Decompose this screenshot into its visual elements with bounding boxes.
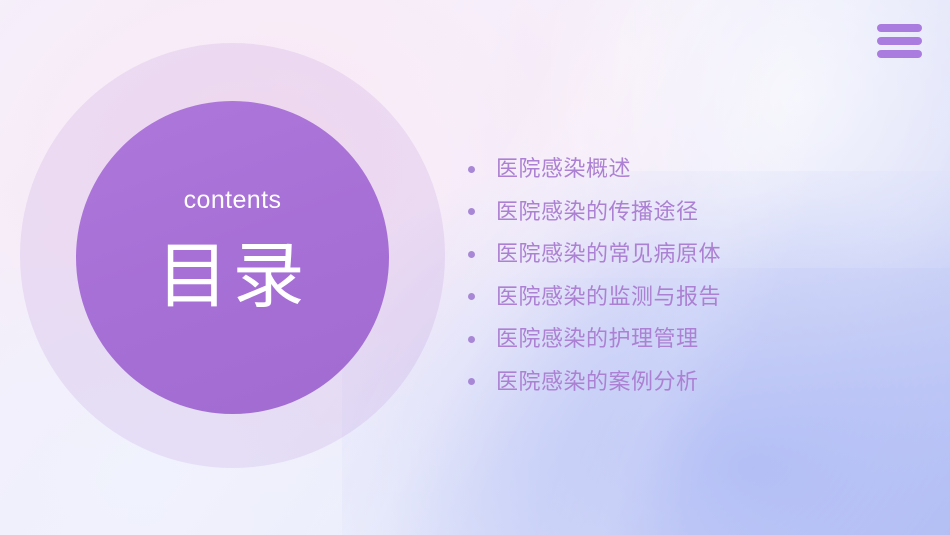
list-item-label: 医院感染的传播途径 <box>496 200 699 224</box>
bullet-icon <box>468 208 475 215</box>
list-item-label: 医院感染的护理管理 <box>496 327 699 351</box>
bullet-icon <box>468 293 475 300</box>
slide-canvas: contents 目录 医院感染概述 医院感染的传播途径 医院感染的常见病原体 … <box>0 0 950 535</box>
hamburger-bar-top <box>877 24 922 32</box>
list-item[interactable]: 医院感染的护理管理 <box>468 318 898 361</box>
bullet-icon <box>468 336 475 343</box>
list-item-label: 医院感染的常见病原体 <box>496 242 721 266</box>
list-item-label: 医院感染概述 <box>496 157 631 181</box>
hamburger-bar-middle <box>877 37 922 45</box>
bullet-icon <box>468 378 475 385</box>
contents-english-title: contents <box>184 188 282 213</box>
contents-chinese-title: 目录 <box>156 241 308 313</box>
list-item[interactable]: 医院感染概述 <box>468 148 898 191</box>
bullet-icon <box>468 166 475 173</box>
list-item[interactable]: 医院感染的监测与报告 <box>468 276 898 319</box>
list-item[interactable]: 医院感染的传播途径 <box>468 191 898 234</box>
bullet-icon <box>468 251 475 258</box>
contents-circle: contents 目录 <box>76 101 389 414</box>
list-item-label: 医院感染的案例分析 <box>496 370 699 394</box>
list-item[interactable]: 医院感染的案例分析 <box>468 361 898 404</box>
list-item-label: 医院感染的监测与报告 <box>496 285 721 309</box>
hamburger-menu-icon[interactable] <box>877 24 922 58</box>
table-of-contents-list: 医院感染概述 医院感染的传播途径 医院感染的常见病原体 医院感染的监测与报告 医… <box>468 148 898 403</box>
list-item[interactable]: 医院感染的常见病原体 <box>468 233 898 276</box>
hamburger-bar-bottom <box>877 50 922 58</box>
